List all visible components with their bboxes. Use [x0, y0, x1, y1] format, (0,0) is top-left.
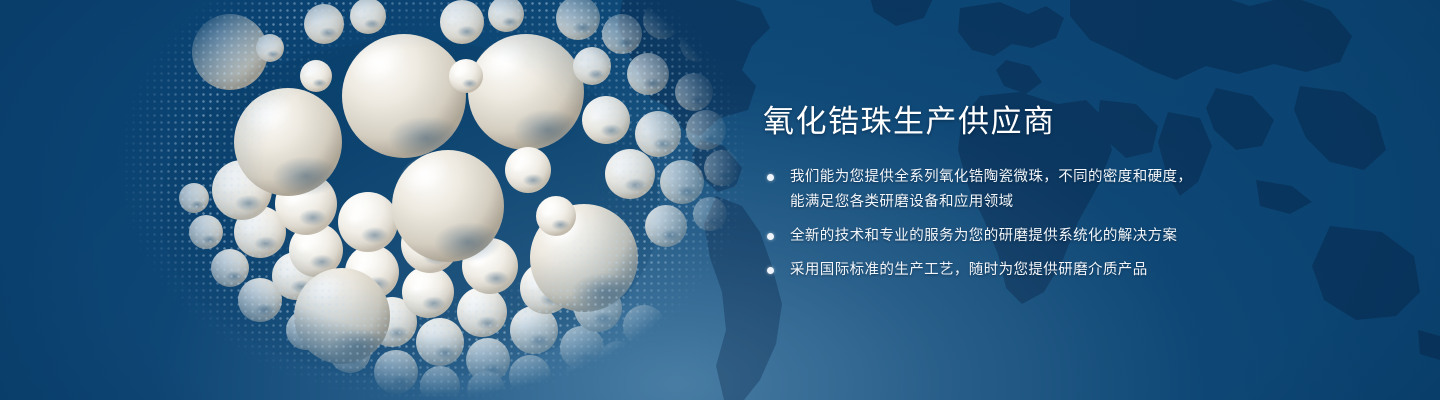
- bullet-dot-icon: [767, 267, 774, 274]
- bullet-line-2a: 全新的技术和专业的服务为您的研磨提供系统化的解决方案: [790, 224, 1283, 249]
- bullet-dot-icon: [767, 233, 774, 240]
- bullet-dot-icon: [767, 174, 774, 181]
- banner-copy: 氧化锆珠生产供应商 我们能为您提供全系列氧化锆陶瓷微珠，不同的密度和硬度， 能满…: [763, 105, 1283, 283]
- bullet-line-1b: 能满足您各类研磨设备和应用领域: [790, 190, 1283, 215]
- banner-bullet-list: 我们能为您提供全系列氧化锆陶瓷微珠，不同的密度和硬度， 能满足您各类研磨设备和应…: [763, 165, 1283, 283]
- bullet-line-1a: 我们能为您提供全系列氧化锆陶瓷微珠，不同的密度和硬度，: [790, 165, 1283, 190]
- bullet-item-3: 采用国际标准的生产工艺，随时为您提供研磨介质产品: [763, 258, 1283, 283]
- bullet-item-2: 全新的技术和专业的服务为您的研磨提供系统化的解决方案: [763, 224, 1283, 249]
- banner-headline: 氧化锆珠生产供应商: [763, 105, 1283, 139]
- zirconia-beads-photo: [110, 0, 800, 400]
- hero-banner: 氧化锆珠生产供应商 我们能为您提供全系列氧化锆陶瓷微珠，不同的密度和硬度， 能满…: [0, 0, 1440, 400]
- bullet-item-1: 我们能为您提供全系列氧化锆陶瓷微珠，不同的密度和硬度， 能满足您各类研磨设备和应…: [763, 165, 1283, 215]
- bullet-line-3a: 采用国际标准的生产工艺，随时为您提供研磨介质产品: [790, 258, 1283, 283]
